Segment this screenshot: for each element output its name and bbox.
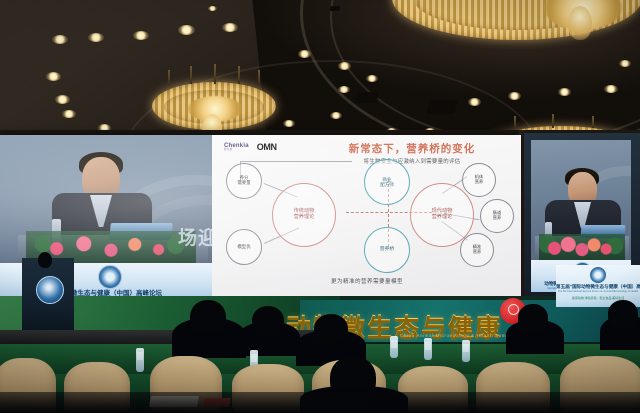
downlight <box>330 112 342 119</box>
chandelier-large-right <box>392 0 640 66</box>
downlight <box>366 75 378 82</box>
downlight <box>604 85 618 93</box>
side-banner-subtitle: The 5th International Summit Forum on An… <box>556 290 640 293</box>
flower-arrangement <box>539 234 625 260</box>
attendee-head <box>190 300 226 334</box>
downlight <box>55 95 70 104</box>
downlight <box>62 110 76 118</box>
attendee-head <box>252 306 284 336</box>
downlight <box>338 86 350 93</box>
downlight <box>508 92 521 100</box>
ceiling-vent <box>329 6 340 11</box>
attendee-head <box>608 300 638 328</box>
downlight <box>46 72 61 81</box>
downlight <box>133 31 149 40</box>
screenshot-root: 场迎 动物微生态与健康（中国）高峰论坛 International Summit… <box>0 0 640 413</box>
side-banner-tagline: 健康动物 绿色养殖 · 安全食品 美好生活 <box>556 296 640 300</box>
water-bottle <box>462 340 470 362</box>
attendee-head <box>518 304 548 332</box>
forum-seal-icon <box>590 267 606 283</box>
ceiling-vent <box>355 92 380 103</box>
screen-glare <box>0 135 521 301</box>
water-bottle <box>136 348 144 372</box>
downlight <box>208 6 217 11</box>
downlight <box>222 23 238 32</box>
downlight <box>283 120 295 127</box>
downlight <box>298 50 311 58</box>
downlight <box>468 98 481 106</box>
downlight <box>178 25 195 35</box>
water-bottle <box>424 338 432 360</box>
water-bottle <box>390 336 398 358</box>
person-at-lectern <box>38 252 52 268</box>
downlight <box>338 62 351 70</box>
downlight <box>52 35 68 44</box>
forum-seal-icon <box>36 276 64 304</box>
attendee-head <box>314 314 348 344</box>
main-projection-screen: 场迎 动物微生态与健康（中国）高峰论坛 International Summit… <box>0 135 521 301</box>
downlight <box>88 33 104 42</box>
foreground-shadow <box>0 392 640 413</box>
ballroom-ceiling <box>0 0 640 142</box>
ceiling-vent <box>426 100 457 114</box>
downlight <box>558 88 571 96</box>
